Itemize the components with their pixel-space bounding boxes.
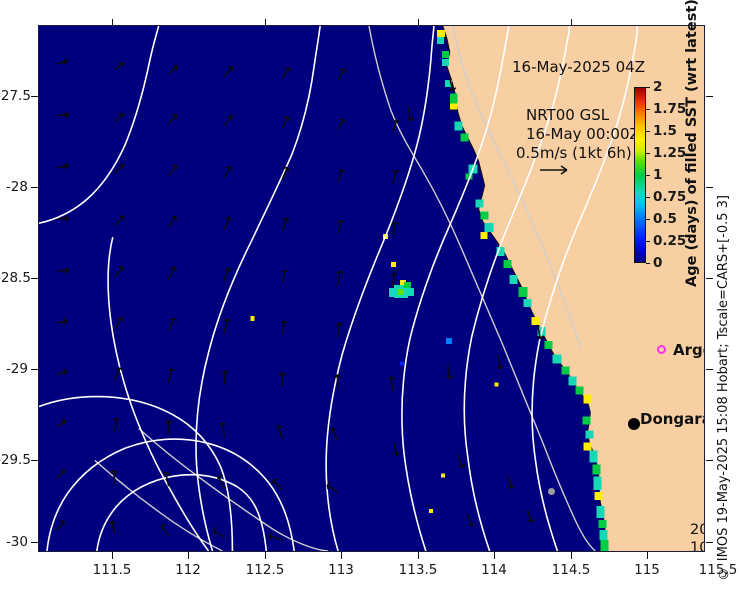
x-tick-label: 111.5 bbox=[93, 562, 132, 578]
x-tick-label: 112 bbox=[175, 562, 201, 578]
contour-and-vector-overlay bbox=[39, 26, 704, 551]
x-tick bbox=[265, 552, 266, 559]
y-tick bbox=[31, 96, 38, 97]
x-tick bbox=[341, 552, 342, 559]
dongara-marker-icon bbox=[628, 418, 640, 430]
bathymetry-contours bbox=[95, 26, 595, 551]
colorbar-tick-label: 1.5 bbox=[653, 123, 677, 139]
x-tick bbox=[112, 552, 113, 559]
x-tick-label: 114.5 bbox=[552, 562, 591, 578]
y-tick-right bbox=[706, 460, 713, 461]
date-stamp: 16-May-2025 04Z bbox=[512, 58, 645, 76]
y-tick bbox=[31, 278, 38, 279]
x-tick bbox=[188, 552, 189, 559]
x-tick-label: 115 bbox=[634, 562, 660, 578]
colorbar-tick-label: 0.25 bbox=[653, 233, 686, 249]
y-tick-label: -30 bbox=[0, 534, 28, 550]
depth-legend: 200m 1000m bbox=[690, 521, 705, 552]
y-tick-right bbox=[706, 542, 713, 543]
y-tick bbox=[31, 187, 38, 188]
colorbar-gradient bbox=[634, 87, 646, 263]
colorbar-tick-label: 1 bbox=[653, 167, 662, 183]
colorbar-tick-label: 1.75 bbox=[653, 101, 686, 117]
model-time-label: 16-May 00:00Z bbox=[526, 125, 640, 143]
x-tick-top bbox=[571, 19, 572, 26]
y-tick-right bbox=[706, 96, 713, 97]
dongara-label: Dongara bbox=[640, 410, 705, 428]
y-tick-label: -29 bbox=[0, 361, 28, 377]
vector-scale-arrow bbox=[539, 164, 573, 176]
y-tick-label: -29.5 bbox=[0, 452, 28, 468]
colorbar-tick-label: 0 bbox=[653, 255, 662, 271]
y-tick bbox=[31, 369, 38, 370]
argo-marker-icon bbox=[657, 345, 666, 354]
y-tick-label: -28.5 bbox=[0, 270, 28, 286]
colorbar-tick-label: 0.75 bbox=[653, 189, 686, 205]
x-tick bbox=[647, 552, 648, 559]
y-tick-label: -27.5 bbox=[0, 88, 28, 104]
x-tick-label: 113 bbox=[328, 562, 354, 578]
x-tick-label: 113.5 bbox=[399, 562, 438, 578]
y-tick-right bbox=[706, 369, 713, 370]
y-tick-right bbox=[706, 187, 713, 188]
figure-canvas: 16-May-2025 04Z NRT00 GSL 16-May 00:00Z … bbox=[0, 0, 740, 592]
y-tick-label: -28 bbox=[0, 179, 28, 195]
colorbar-title: Age (days) of filled SST (wrt latest) bbox=[684, 27, 700, 287]
mooring-marker-icon bbox=[548, 488, 555, 495]
colorbar-tick-label: 2 bbox=[653, 79, 662, 95]
colorbar-tick-label: 0.5 bbox=[653, 211, 677, 227]
x-tick bbox=[418, 552, 419, 559]
x-tick-top bbox=[265, 19, 266, 26]
x-tick-label: 112.5 bbox=[246, 562, 285, 578]
depth-200m-label: 200m bbox=[690, 521, 705, 539]
y-tick bbox=[31, 542, 38, 543]
argo-legend-label: Argo bbox=[673, 341, 705, 359]
x-tick-top bbox=[112, 19, 113, 26]
vector-scale-label: 0.5m/s (1kt 6h) bbox=[516, 144, 632, 162]
model-name-label: NRT00 GSL bbox=[526, 106, 609, 124]
x-tick-top bbox=[418, 19, 419, 26]
credit-text: © IMOS 19-May-2025 15:08 Hobart; Tscale=… bbox=[716, 195, 731, 580]
depth-1000m-label: 1000m bbox=[690, 539, 705, 552]
x-tick bbox=[571, 552, 572, 559]
y-tick bbox=[31, 460, 38, 461]
map-plot-area[interactable]: 16-May-2025 04Z NRT00 GSL 16-May 00:00Z … bbox=[38, 25, 705, 552]
ssh-contours bbox=[39, 26, 637, 551]
colorbar-tick-label: 1.25 bbox=[653, 145, 686, 161]
x-tick-label: 114 bbox=[481, 562, 507, 578]
y-tick-right bbox=[706, 278, 713, 279]
x-tick bbox=[494, 552, 495, 559]
